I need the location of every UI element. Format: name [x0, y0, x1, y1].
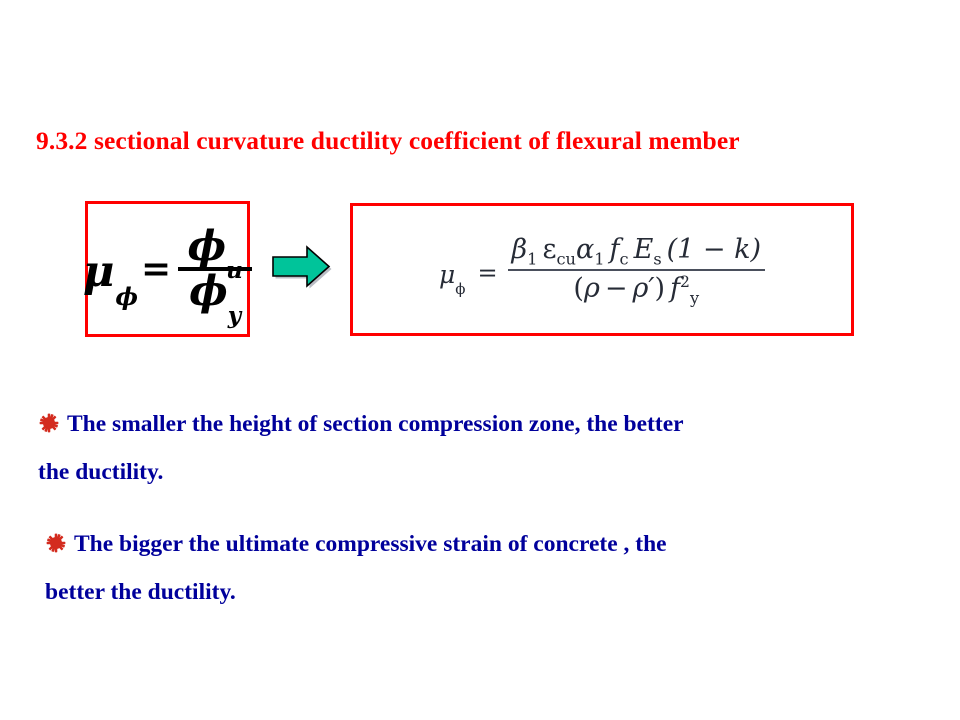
- bullet-item: The smaller the height of section compre…: [38, 412, 928, 484]
- formula1-equals: =: [141, 248, 171, 290]
- formula2-epsilon-subscript: cu: [556, 250, 576, 269]
- formula1-lhs: μϕ: [83, 251, 137, 294]
- formula1-denominator-symbol: ϕ: [189, 267, 228, 315]
- formula2-epsilon: ε: [542, 234, 556, 265]
- formula1-denominator-subscript: y: [228, 302, 241, 329]
- formula2-denominator: (ρ−ρ′)f2y: [569, 273, 703, 305]
- formula2-fy-superscript: 2: [680, 272, 690, 291]
- formula2-paren-open: (: [573, 273, 584, 304]
- formula2-alpha: α: [576, 234, 594, 265]
- bullet-text-line2: better the ductility.: [45, 579, 236, 605]
- formula2-equals: =: [477, 259, 497, 287]
- bullet-text-line1: The smaller the height of section compre…: [67, 411, 684, 437]
- formula2-minus: −: [605, 273, 628, 304]
- bullet-text-line1: The bigger the ultimate compressive stra…: [74, 531, 667, 557]
- right-arrow-icon: [269, 243, 333, 290]
- formula2-fc-subscript: c: [620, 250, 629, 269]
- formula2-fraction-bar: [508, 269, 765, 271]
- formula2-beta: β: [512, 234, 528, 265]
- formula1-numerator: ϕu: [181, 225, 248, 269]
- bullet-line: The smaller the height of section compre…: [38, 412, 928, 437]
- formula2-fy: f: [670, 273, 680, 304]
- formula1-mu-subscript: ϕ: [115, 282, 138, 311]
- formula2-beta-subscript: 1: [527, 250, 537, 269]
- formula2-paren-close: ): [654, 273, 665, 304]
- formula-mu-phi-expanded: μϕ = β1εcuα1fcEs(1 − k) (ρ−ρ′)f2y: [353, 206, 851, 333]
- bullet-text-line2: the ductility.: [38, 459, 163, 485]
- formula1-numerator-subscript: u: [226, 257, 243, 284]
- formula2-fy-subscript: y: [690, 288, 699, 307]
- formula1-fraction: ϕu ϕy: [178, 225, 252, 314]
- formula2-mu-subscript: ϕ: [455, 280, 465, 298]
- bullet-line: The bigger the ultimate compressive stra…: [45, 532, 935, 557]
- formula2-alpha-subscript: 1: [594, 250, 604, 269]
- formula2-rho-prime: ρ′: [632, 273, 654, 304]
- bullet-item: The bigger the ultimate compressive stra…: [45, 532, 935, 604]
- formula2-fraction: β1εcuα1fcEs(1 − k) (ρ−ρ′)f2y: [508, 234, 765, 305]
- formula2-lhs: μϕ: [439, 260, 465, 289]
- formula2-fc: f: [610, 234, 620, 265]
- formula-mu-phi-definition: μϕ = ϕu ϕy: [88, 204, 247, 334]
- formula2-rho: ρ: [584, 273, 600, 304]
- formula2-es: E: [634, 234, 654, 265]
- formula-box-left: μϕ = ϕu ϕy: [85, 201, 250, 337]
- formula-box-right: μϕ = β1εcuα1fcEs(1 − k) (ρ−ρ′)f2y: [350, 203, 854, 336]
- starburst-bullet-icon: [38, 412, 60, 434]
- formula1-numerator-symbol: ϕ: [187, 222, 226, 270]
- formula2-mu-symbol: μ: [439, 260, 455, 289]
- formula2-numerator: β1εcuα1fcEs(1 − k): [508, 234, 765, 266]
- formula2-one-minus-k: (1 − k): [667, 234, 761, 265]
- starburst-bullet-icon: [45, 532, 67, 554]
- bullet-line: the ductility.: [38, 461, 928, 485]
- page-title: 9.3.2 sectional curvature ductility coef…: [36, 126, 740, 156]
- bullet-line: better the ductility.: [45, 581, 935, 605]
- formula1-mu-symbol: μ: [83, 247, 114, 297]
- formula2-es-subscript: s: [653, 250, 661, 269]
